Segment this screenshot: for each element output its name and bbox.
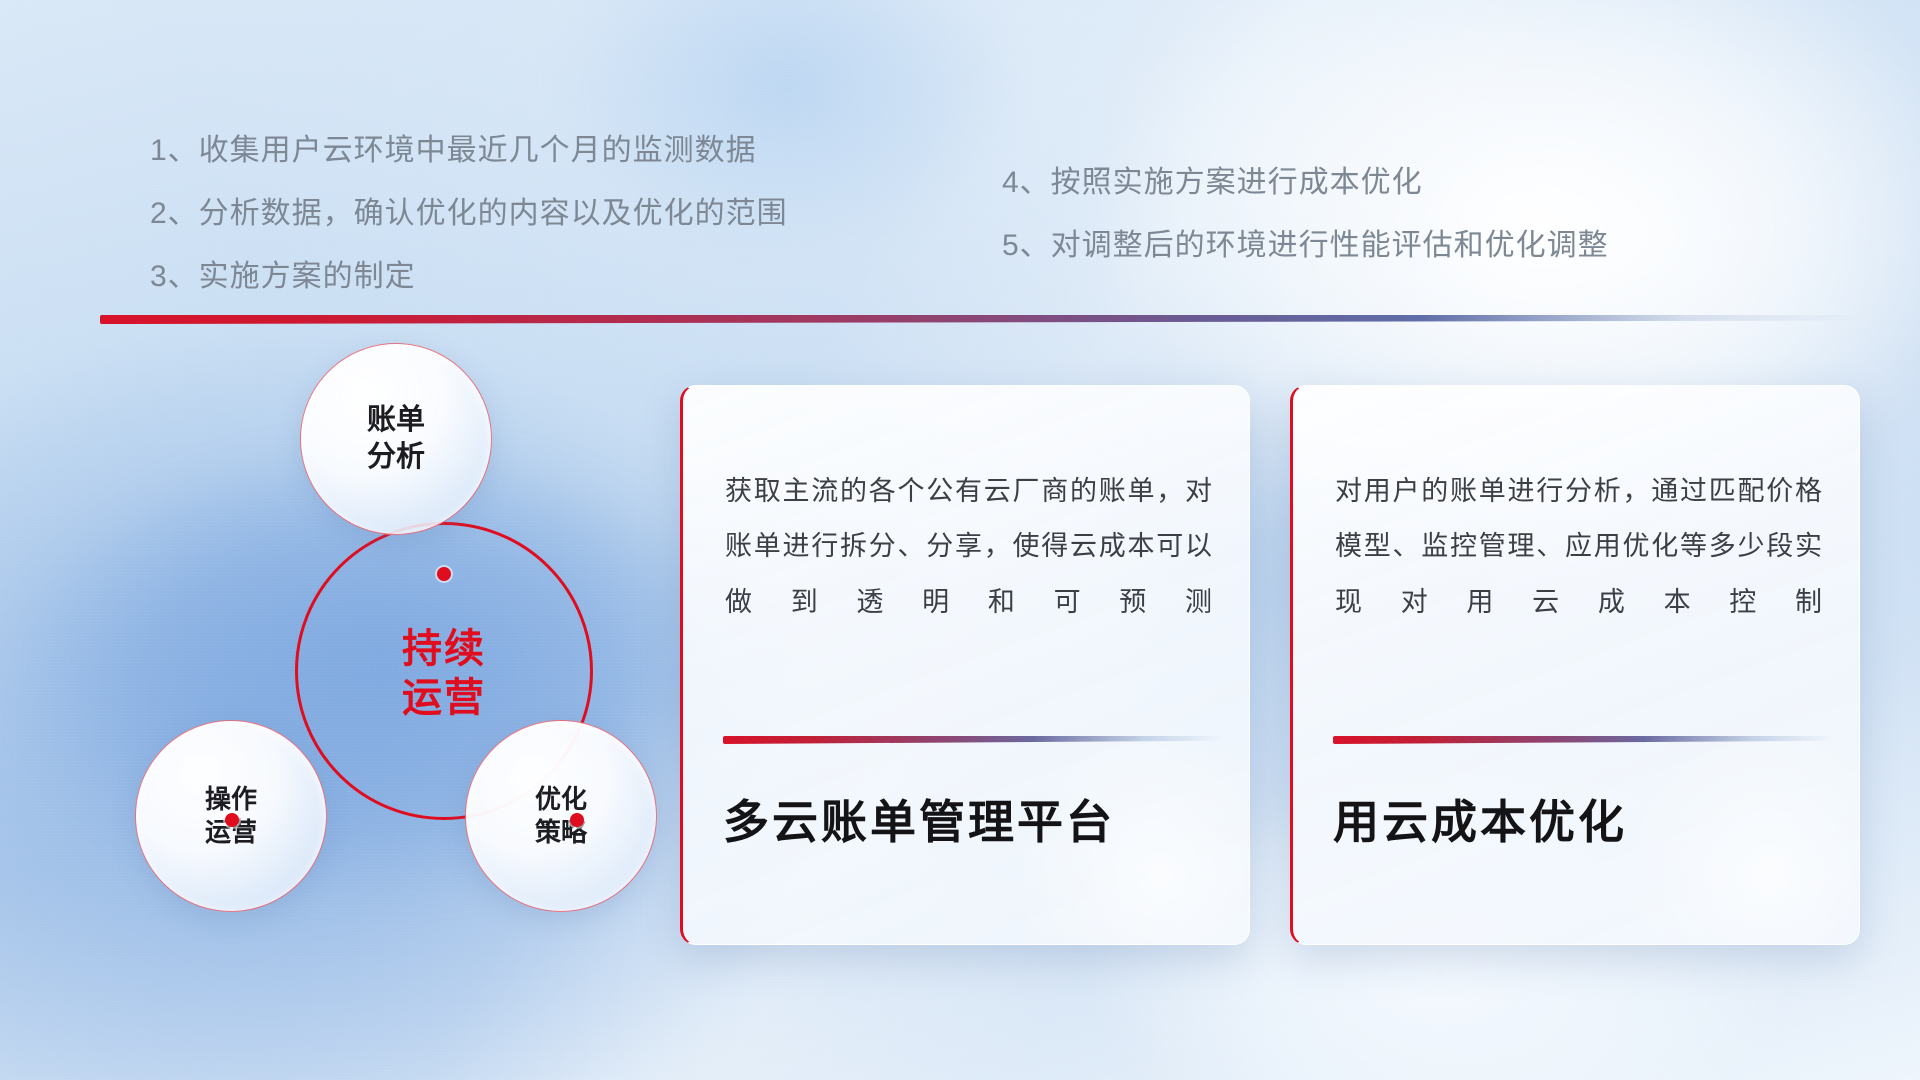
- process-step-5: 5、对调整后的环境进行性能评估和优化调整: [1002, 220, 1609, 264]
- venn-node-dot-top: [437, 567, 451, 581]
- venn-center-label-line1: 持续: [295, 625, 593, 674]
- venn-node-dot-bottom-left: [225, 813, 239, 827]
- card-title: 多云账单管理平台: [723, 786, 1219, 852]
- venn-diagram: 持续 运营 账单 分析 操作 运营 优化 策略: [95, 355, 655, 935]
- venn-bubble-bill-analysis[interactable]: 账单 分析: [300, 343, 492, 535]
- process-step-2: 2、分析数据，确认优化的内容以及优化的范围: [150, 188, 788, 232]
- feature-card-multicloud-billing[interactable]: 获取主流的各个公有云厂商的账单，对账单进行拆分、分享，使得云成本可以做到透明和可…: [680, 385, 1250, 945]
- venn-bubble-label-line1: 优化: [535, 783, 587, 816]
- venn-bubble-label-line2: 分析: [367, 439, 425, 476]
- venn-bubble-label-line1: 账单: [367, 402, 425, 439]
- venn-center-label-line2: 运营: [295, 674, 593, 723]
- venn-bubble-label-line1: 操作: [205, 783, 257, 816]
- process-steps-list: 1、收集用户云环境中最近几个月的监测数据 2、分析数据，确认优化的内容以及优化的…: [0, 0, 1920, 300]
- process-step-1: 1、收集用户云环境中最近几个月的监测数据: [150, 125, 757, 169]
- process-step-3: 3、实施方案的制定: [150, 251, 416, 295]
- venn-center-label: 持续 运营: [295, 625, 593, 723]
- venn-bubble-optimization-strategy[interactable]: 优化 策略: [465, 720, 657, 912]
- process-step-4: 4、按照实施方案进行成本优化: [1002, 157, 1423, 201]
- feature-card-cost-optimization[interactable]: 对用户的账单进行分析，通过匹配价格模型、监控管理、应用优化等多少段实现对用云成本…: [1290, 385, 1860, 945]
- card-title: 用云成本优化: [1333, 786, 1829, 852]
- card-description: 对用户的账单进行分析，通过匹配价格模型、监控管理、应用优化等多少段实现对用云成本…: [1335, 464, 1823, 630]
- card-description: 获取主流的各个公有云厂商的账单，对账单进行拆分、分享，使得云成本可以做到透明和可…: [725, 464, 1213, 630]
- venn-node-dot-bottom-right: [570, 813, 584, 827]
